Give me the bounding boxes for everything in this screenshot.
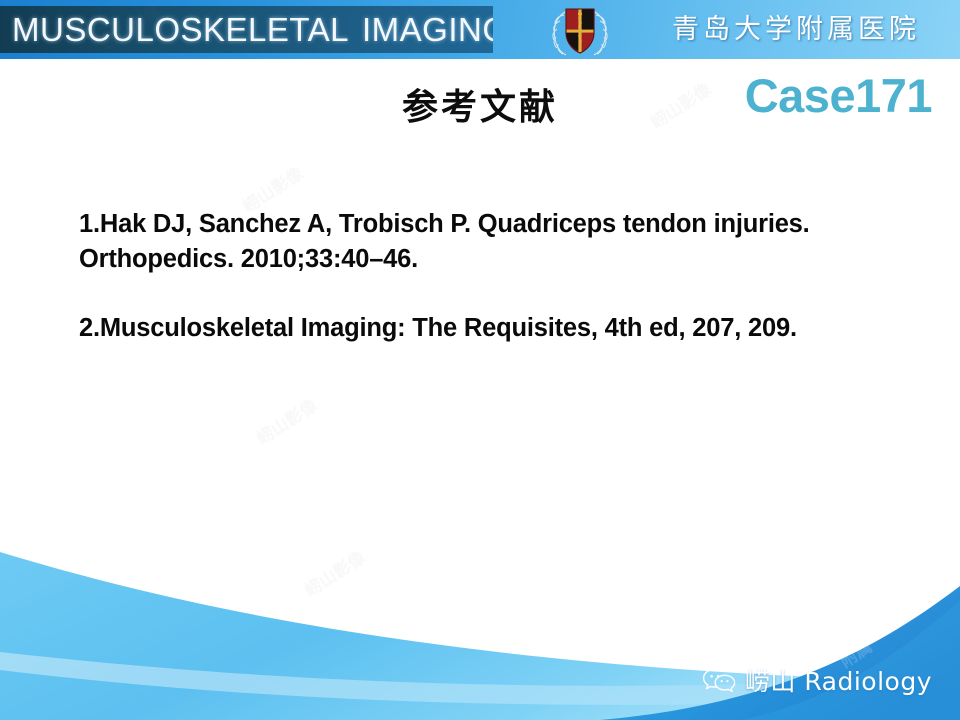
journal-wordmark-plaque: MUSCULOSKELETALIMAGING	[0, 6, 493, 53]
background-watermark: 崂山影像	[251, 391, 322, 449]
hospital-shield-icon	[545, 3, 615, 58]
reference-list: 1.Hak DJ, Sanchez A, Trobisch P. Quadric…	[79, 207, 924, 346]
slide-canvas: MUSCULOSKELETALIMAGING	[0, 0, 960, 720]
journal-wordmark-musculoskeletal: MUSCULOSKELETAL	[12, 11, 349, 48]
wechat-icon	[702, 667, 736, 694]
footer-signature-text: 崂山 Radiology	[745, 662, 932, 698]
case-number-label: Case171	[745, 68, 932, 123]
footer-signature: 崂山 Radiology	[702, 662, 932, 698]
journal-wordmark: MUSCULOSKELETALIMAGING	[12, 11, 493, 49]
journal-wordmark-imaging: IMAGING	[362, 11, 493, 48]
list-item: 1.Hak DJ, Sanchez A, Trobisch P. Quadric…	[79, 207, 924, 277]
hospital-name: 青岛大学附属医院	[672, 9, 912, 51]
slide-header-band: MUSCULOSKELETALIMAGING	[0, 0, 960, 59]
list-item: 2.Musculoskeletal Imaging: The Requisite…	[79, 311, 924, 346]
